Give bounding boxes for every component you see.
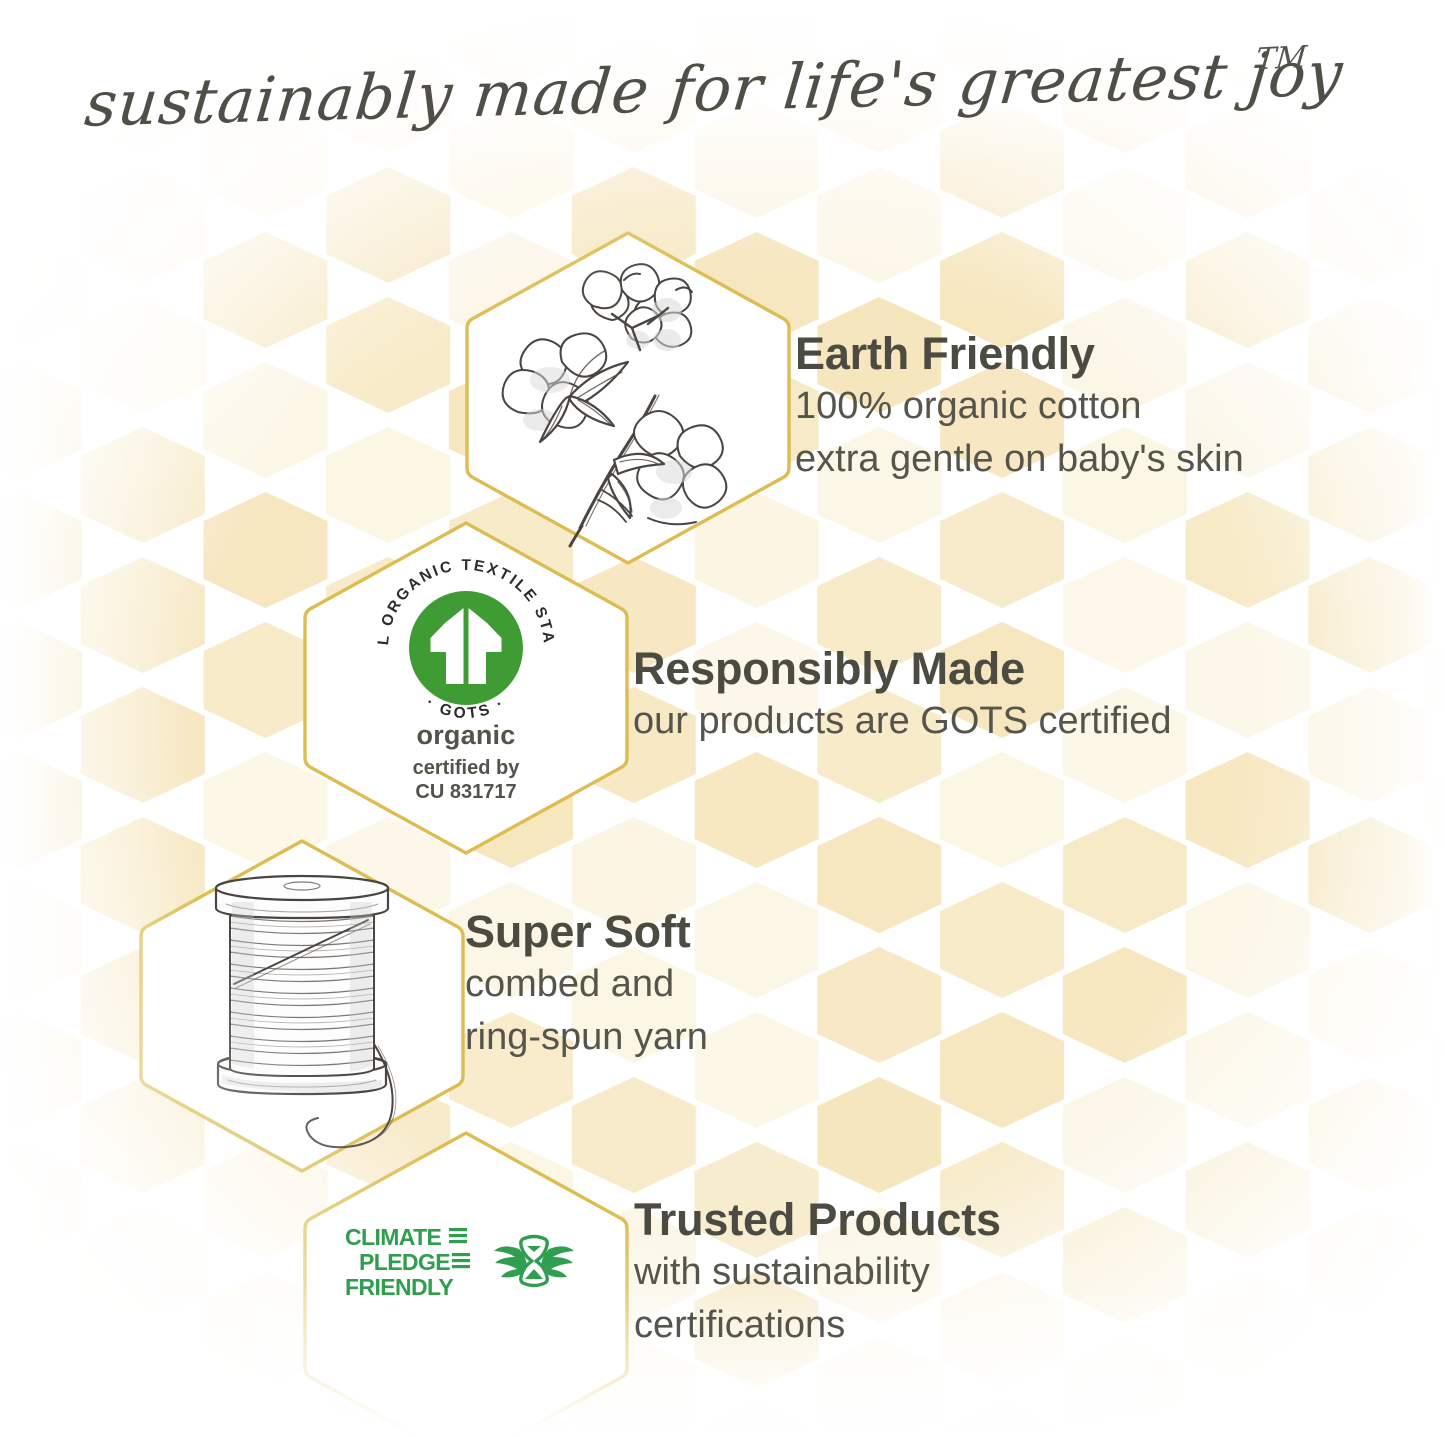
feature-hex-earth-friendly: [462, 228, 794, 568]
cpf-line-2: PLEDGE: [359, 1249, 450, 1275]
climate-pledge-friendly-icon: CLIMATE PLEDGE FRIENDLY: [345, 1218, 580, 1308]
feature-copy-earth-friendly: Earth Friendly 100% organic cotton extra…: [795, 330, 1244, 484]
cpf-bar-glyphs: [449, 1228, 470, 1268]
feature-copy-responsibly-made: Responsibly Made our products are GOTS c…: [633, 645, 1172, 746]
cpf-line-3: FRIENDLY: [345, 1274, 453, 1300]
climate-pledge-wordmark: CLIMATE PLEDGE FRIENDLY: [345, 1224, 480, 1302]
feature-heading: Responsibly Made: [633, 645, 1172, 693]
feature-heading: Trusted Products: [634, 1196, 1001, 1244]
feature-line-1: combed and: [465, 960, 708, 1009]
winged-hourglass-icon: [492, 1227, 576, 1299]
gots-green-disc: [409, 591, 523, 705]
feature-line-1: our products are GOTS certified: [633, 697, 1172, 746]
feature-copy-super-soft: Super Soft combed and ring-spun yarn: [465, 908, 708, 1062]
feature-line-1: 100% organic cotton: [795, 382, 1244, 431]
gots-organic-seal-icon: GLOBAL ORGANIC TEXTILE STANDARD · GOTS ·…: [346, 552, 586, 807]
feature-line-2: certifications: [634, 1301, 1001, 1350]
infographic-canvas: sustainably made for life's greatest joy…: [0, 0, 1445, 1437]
feature-heading: Earth Friendly: [795, 330, 1244, 378]
feature-line-1: with sustainability: [634, 1248, 1001, 1297]
feature-hex-super-soft: [136, 836, 468, 1176]
feature-line-2: extra gentle on baby's skin: [795, 435, 1244, 484]
cpf-line-1: CLIMATE: [345, 1224, 442, 1250]
gots-certified-by-label: certified by: [413, 757, 520, 779]
feature-heading: Super Soft: [465, 908, 708, 956]
gots-certificate-number: CU 831717: [415, 781, 516, 803]
feature-copy-trusted-products: Trusted Products with sustainability cer…: [634, 1196, 1001, 1350]
gots-organic-label: organic: [346, 720, 586, 751]
feature-line-2: ring-spun yarn: [465, 1013, 708, 1062]
